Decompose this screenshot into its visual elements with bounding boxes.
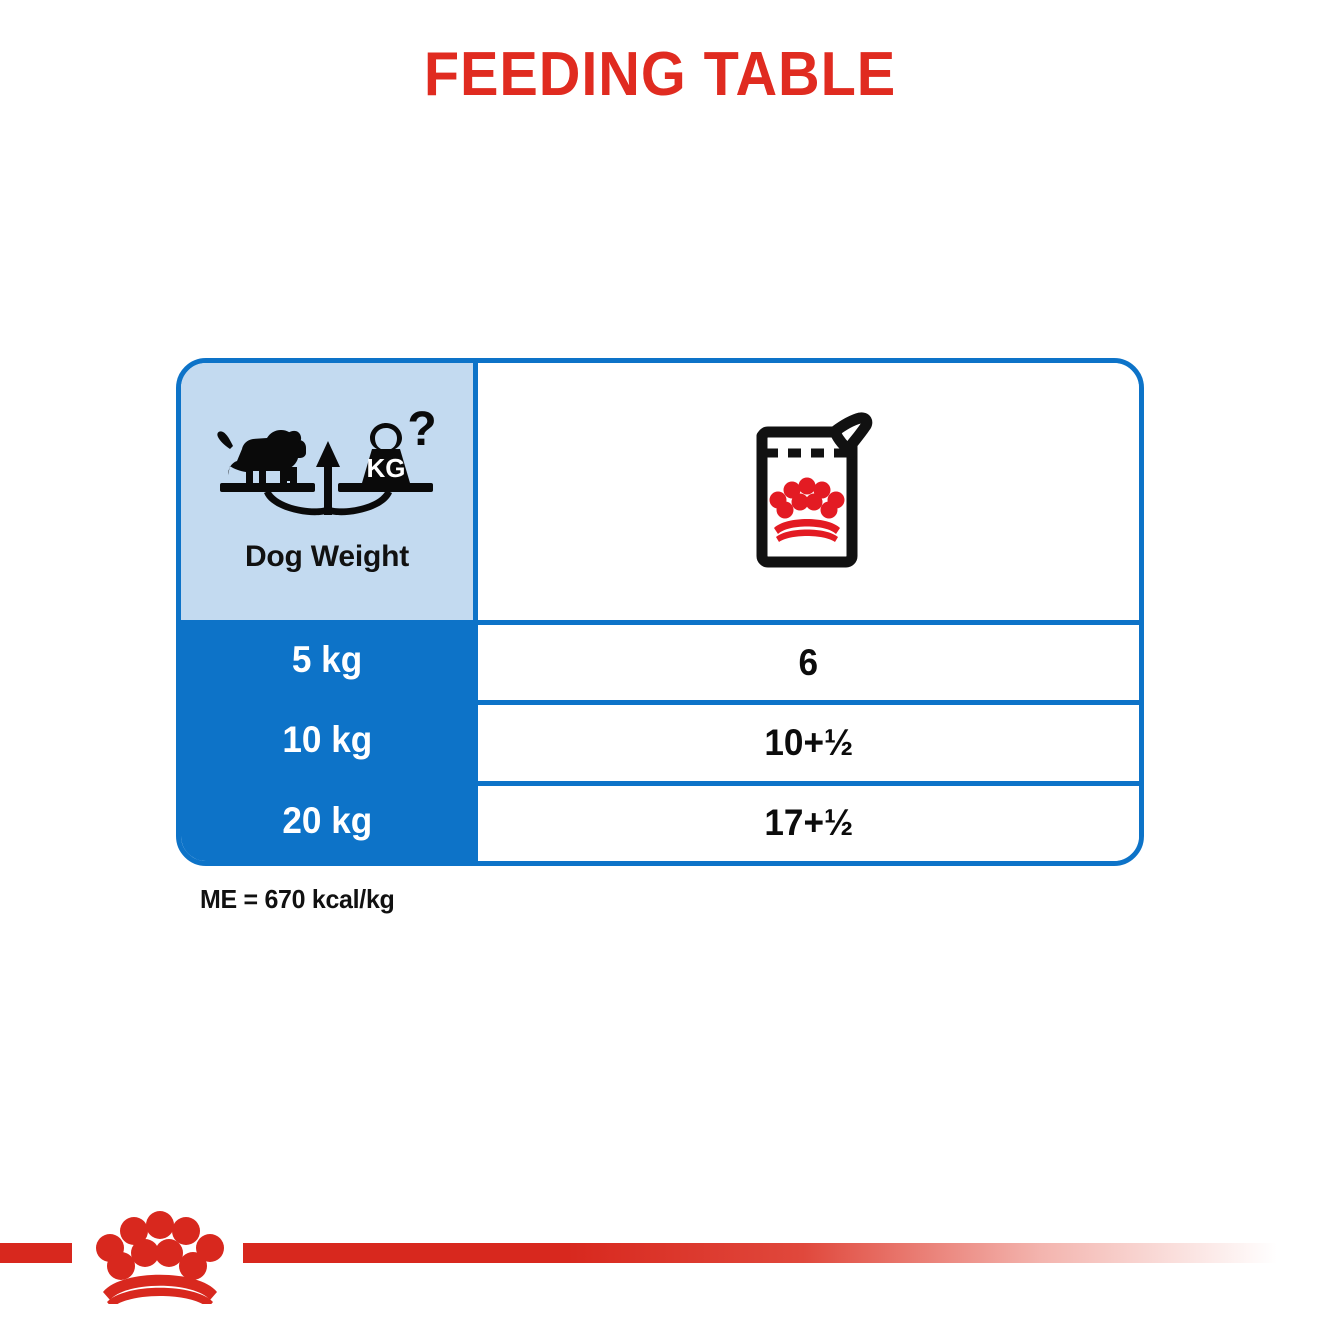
row-amount-cell: 10+½: [478, 700, 1139, 780]
metabolizable-energy-footnote: ME = 670 kcal/kg: [200, 884, 395, 915]
row-weight-value: 5 kg: [292, 639, 362, 681]
row-amount-cell: 6: [478, 620, 1139, 700]
row-weight-cell: 5 kg: [181, 620, 478, 700]
table-row: 10 kg 10+½: [181, 700, 1139, 780]
royal-canin-pouch-icon: [734, 406, 884, 576]
table-row: 20 kg 17+½: [181, 781, 1139, 861]
feeding-table: KG ? Dog Weight: [176, 358, 1144, 866]
table-grid: KG ? Dog Weight: [181, 363, 1139, 861]
row-weight-cell: 10 kg: [181, 700, 478, 780]
header-cell-dog-weight: KG ? Dog Weight: [181, 363, 478, 620]
row-weight-value: 10 kg: [282, 719, 372, 761]
royal-canin-crown-logo: [93, 1208, 243, 1304]
dog-scale-kg-question-icon: KG ?: [212, 409, 442, 524]
header-cell-pouch: [478, 363, 1139, 620]
brand-bar-right-segment: [243, 1243, 1320, 1263]
row-weight-cell: 20 kg: [181, 781, 478, 861]
dog-weight-label: Dog Weight: [245, 540, 409, 574]
page-title: FEEDING TABLE: [46, 44, 1274, 106]
row-weight-value: 20 kg: [282, 800, 372, 842]
row-amount-cell: 17+½: [478, 781, 1139, 861]
question-mark-icon: ?: [407, 409, 436, 456]
kg-weight-label: KG: [367, 453, 406, 483]
brand-bar-left-segment: [0, 1243, 72, 1263]
row-amount-value: 10+½: [764, 722, 853, 764]
row-amount-value: 17+½: [764, 802, 853, 844]
table-header-row: KG ? Dog Weight: [181, 363, 1139, 620]
table-row: 5 kg 6: [181, 620, 1139, 700]
row-amount-value: 6: [799, 642, 819, 684]
